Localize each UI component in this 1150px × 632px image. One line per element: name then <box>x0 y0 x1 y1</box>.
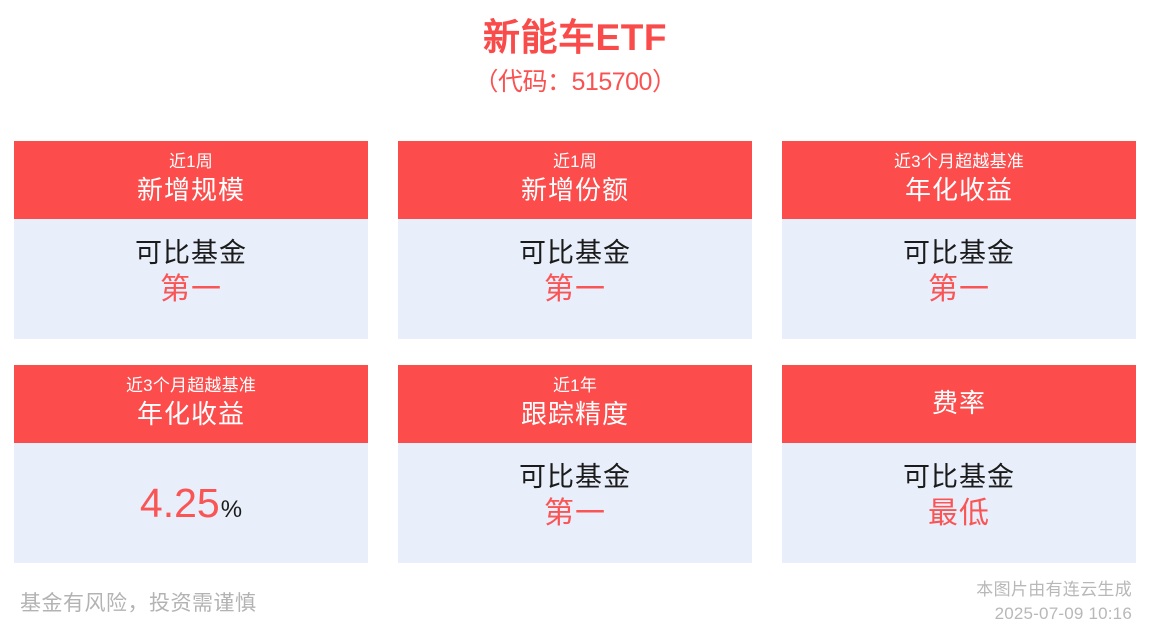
card-body: 可比基金 第一 <box>14 219 368 339</box>
card-body: 可比基金 第一 <box>398 219 752 339</box>
metric-card: 近3个月超越基准 年化收益 可比基金 第一 <box>782 141 1136 339</box>
metric-card-grid: 近1周 新增规模 可比基金 第一 近1周 新增份额 可比基金 第一 近3个月超越… <box>14 141 1136 563</box>
card-header: 费率 <box>782 365 1136 443</box>
card-body-label: 可比基金 <box>519 460 631 495</box>
card-body-rank: 第一 <box>544 495 606 533</box>
card-body-value: 4.25 % <box>140 483 242 524</box>
generated-by-label: 本图片由有连云生成 <box>976 578 1132 602</box>
card-body-rank: 最低 <box>928 495 990 533</box>
card-metric-label: 新增规模 <box>137 174 245 207</box>
card-body: 可比基金 第一 <box>782 219 1136 339</box>
page-header: 新能车ETF （代码：515700） <box>0 0 1150 101</box>
card-period-label: 近1年 <box>553 375 597 398</box>
fund-code-subtitle: （代码：515700） <box>0 64 1150 102</box>
card-body-rank: 第一 <box>928 271 990 309</box>
metric-card: 费率 可比基金 最低 <box>782 365 1136 563</box>
card-value-number: 4.25 <box>140 483 220 524</box>
card-metric-label: 费率 <box>932 387 986 420</box>
card-body-rank: 第一 <box>160 271 222 309</box>
card-header: 近3个月超越基准 年化收益 <box>14 365 368 443</box>
metric-card: 近1年 跟踪精度 可比基金 第一 <box>398 365 752 563</box>
card-header: 近1周 新增规模 <box>14 141 368 219</box>
infographic-page: 新能车ETF （代码：515700） 近1周 新增规模 可比基金 第一 近1周 … <box>0 0 1150 632</box>
card-metric-label: 跟踪精度 <box>521 398 629 431</box>
card-body: 可比基金 最低 <box>782 443 1136 563</box>
risk-disclaimer: 基金有风险，投资需谨慎 <box>20 578 257 620</box>
card-period-label: 近1周 <box>169 151 213 174</box>
card-body: 4.25 % <box>14 443 368 563</box>
card-body-label: 可比基金 <box>903 236 1015 271</box>
metric-card: 近1周 新增份额 可比基金 第一 <box>398 141 752 339</box>
card-body-label: 可比基金 <box>903 460 1015 495</box>
card-body-rank: 第一 <box>544 271 606 309</box>
card-body-label: 可比基金 <box>519 236 631 271</box>
card-header: 近3个月超越基准 年化收益 <box>782 141 1136 219</box>
card-period-label: 近3个月超越基准 <box>894 151 1024 174</box>
card-period-label: 近1周 <box>553 151 597 174</box>
card-value-unit: % <box>221 498 242 522</box>
page-footer: 基金有风险，投资需谨慎 本图片由有连云生成 2025-07-09 10:16 <box>0 570 1150 632</box>
metric-card: 近1周 新增规模 可比基金 第一 <box>14 141 368 339</box>
card-metric-label: 新增份额 <box>521 174 629 207</box>
card-header: 近1周 新增份额 <box>398 141 752 219</box>
card-body: 可比基金 第一 <box>398 443 752 563</box>
metric-card: 近3个月超越基准 年化收益 4.25 % <box>14 365 368 563</box>
generation-info: 本图片由有连云生成 2025-07-09 10:16 <box>976 578 1132 626</box>
card-metric-label: 年化收益 <box>905 174 1013 207</box>
generated-timestamp: 2025-07-09 10:16 <box>976 602 1132 626</box>
card-header: 近1年 跟踪精度 <box>398 365 752 443</box>
page-title: 新能车ETF <box>0 16 1150 60</box>
card-metric-label: 年化收益 <box>137 398 245 431</box>
card-body-label: 可比基金 <box>135 236 247 271</box>
card-period-label: 近3个月超越基准 <box>126 375 256 398</box>
